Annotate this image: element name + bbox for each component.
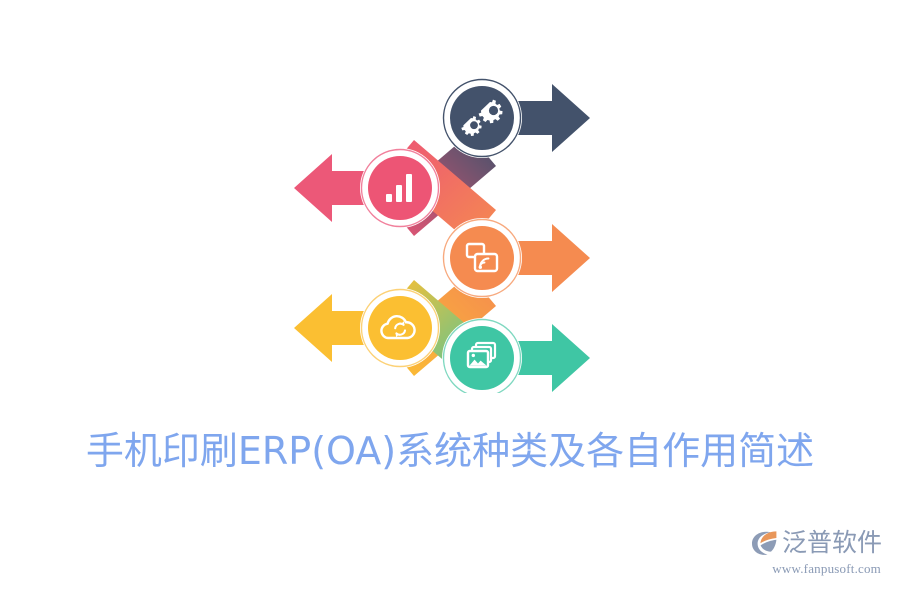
node-settings[interactable] xyxy=(442,78,522,158)
infographic-diagram xyxy=(280,68,600,393)
logo-name: 泛普软件 xyxy=(782,528,882,558)
node-cast[interactable] xyxy=(442,218,522,298)
logo-row: 泛普软件 xyxy=(742,526,882,560)
fanpu-logo-icon xyxy=(749,528,779,558)
brand-logo[interactable]: 泛普软件 www.fanpusoft.com xyxy=(742,526,882,584)
page-canvas: 手机印刷ERP(OA)系统种类及各自作用简述 泛普软件 www.fanpusof… xyxy=(0,0,900,600)
logo-url: www.fanpusoft.com xyxy=(742,560,882,578)
node-cloud-sync[interactable] xyxy=(360,288,440,368)
node-analytics[interactable] xyxy=(360,148,440,228)
page-title: 手机印刷ERP(OA)系统种类及各自作用简述 xyxy=(0,423,900,479)
